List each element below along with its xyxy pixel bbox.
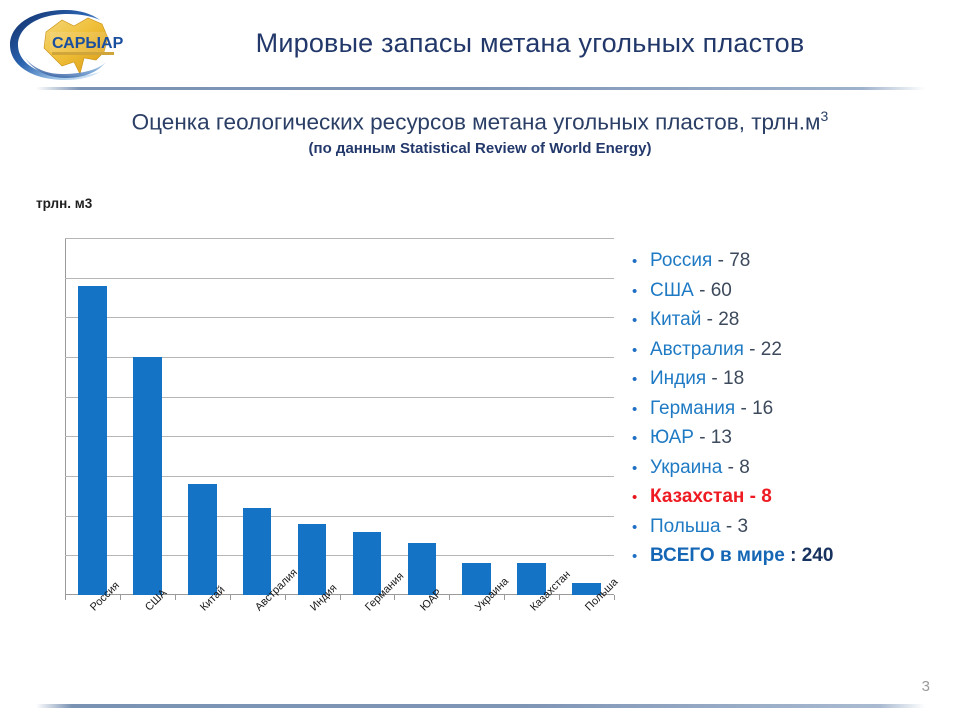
bar-chart: трлн. м3 0102030405060708090 РоссияСШАКи… <box>0 190 630 670</box>
list-item-value: - 18 <box>706 368 744 389</box>
list-item: •Польша - 3 <box>632 516 960 546</box>
bar-series <box>65 238 614 595</box>
bar <box>353 532 382 595</box>
logo-wordmark-text: САРЫАРКА <box>52 35 124 52</box>
list-item: •Австралия - 22 <box>632 339 960 369</box>
bullet-dot-icon: • <box>632 284 650 299</box>
list-item-name: Украина <box>650 457 722 478</box>
plot-area: 0102030405060708090 <box>65 238 614 595</box>
bullet-dot-icon: • <box>632 490 650 505</box>
list-item-name: Казахстан <box>650 486 744 507</box>
bullet-dot-icon: • <box>632 372 650 387</box>
list-item-text: Казахстан - 8 <box>650 486 772 508</box>
header-divider <box>36 87 925 90</box>
list-item-text: ЮАР - 13 <box>650 427 732 449</box>
list-item: •США - 60 <box>632 280 960 310</box>
list-item-name: Китай <box>650 309 701 330</box>
list-item-name: ЮАР <box>650 427 694 448</box>
list-item-value: - 16 <box>735 398 773 419</box>
list-item: •Индия - 18 <box>632 368 960 398</box>
list-item-text: Россия - 78 <box>650 250 750 272</box>
x-tick <box>614 595 615 600</box>
bar <box>298 524 327 595</box>
x-tick <box>449 595 450 600</box>
bullet-dot-icon: • <box>632 431 650 446</box>
company-logo: САРЫАРКА <box>4 4 124 86</box>
x-tick <box>65 595 66 600</box>
x-tick <box>394 595 395 600</box>
list-item: •ВСЕГО в мире : 240 <box>632 545 960 575</box>
list-item-value: - 22 <box>744 339 782 360</box>
list-item-name: Германия <box>650 398 735 419</box>
list-item-name: ВСЕГО в мире <box>650 545 785 566</box>
bullet-dot-icon: • <box>632 520 650 535</box>
logo-wordmark: САРЫАРКА <box>50 32 124 55</box>
chart-title: Оценка геологических ресурсов метана уго… <box>0 108 960 136</box>
list-item: •Китай - 28 <box>632 309 960 339</box>
list-item-value: - 3 <box>721 516 748 537</box>
page-title: Мировые запасы метана угольных пластов <box>150 28 910 59</box>
bullet-dot-icon: • <box>632 254 650 269</box>
x-tick <box>230 595 231 600</box>
list-item-value: - 8 <box>722 457 749 478</box>
country-reserves-list: •Россия - 78•США - 60•Китай - 28•Австрал… <box>632 250 960 575</box>
list-item-text: Германия - 16 <box>650 398 773 420</box>
list-item-name: Россия <box>650 250 712 271</box>
list-item-value: - 13 <box>694 427 732 448</box>
slide: САРЫАРКА Мировые запасы метана угольных … <box>0 0 960 720</box>
x-tick <box>340 595 341 600</box>
list-item-text: Польша - 3 <box>650 516 748 538</box>
list-item-name: Польша <box>650 516 721 537</box>
bullet-dot-icon: • <box>632 313 650 328</box>
list-item-text: США - 60 <box>650 280 732 302</box>
list-item-value: - 60 <box>694 280 732 301</box>
list-item-value: : 240 <box>785 545 834 566</box>
y-axis-label: трлн. м3 <box>36 196 92 211</box>
list-item-text: Индия - 18 <box>650 368 744 390</box>
list-item: •Россия - 78 <box>632 250 960 280</box>
list-item-name: Австралия <box>650 339 744 360</box>
list-item-value: - 28 <box>701 309 739 330</box>
bar <box>243 508 272 595</box>
bullet-dot-icon: • <box>632 402 650 417</box>
list-item-text: Украина - 8 <box>650 457 750 479</box>
list-item-text: Китай - 28 <box>650 309 739 331</box>
list-item-text: Австралия - 22 <box>650 339 782 361</box>
chart-title-text: Оценка геологических ресурсов метана уго… <box>132 110 821 135</box>
chart-title-superscript: 3 <box>821 108 829 124</box>
chart-subtitle: (по данным Statistical Review of World E… <box>0 140 960 157</box>
footer-divider <box>36 704 925 708</box>
x-tick <box>504 595 505 600</box>
bullet-dot-icon: • <box>632 461 650 476</box>
page-number: 3 <box>922 678 930 695</box>
bar <box>78 286 107 595</box>
x-tick <box>120 595 121 600</box>
list-item: •ЮАР - 13 <box>632 427 960 457</box>
bullet-dot-icon: • <box>632 549 650 564</box>
list-item-value: - 78 <box>712 250 750 271</box>
list-item-text: ВСЕГО в мире : 240 <box>650 545 833 567</box>
bar <box>188 484 217 595</box>
list-item: •Украина - 8 <box>632 457 960 487</box>
list-item-name: Индия <box>650 368 706 389</box>
x-tick <box>175 595 176 600</box>
bar <box>408 543 437 595</box>
bar <box>133 357 162 595</box>
bullet-dot-icon: • <box>632 343 650 358</box>
list-item: •Казахстан - 8 <box>632 486 960 516</box>
x-tick <box>559 595 560 600</box>
list-item-value: - 8 <box>744 486 771 507</box>
x-tick <box>285 595 286 600</box>
list-item: •Германия - 16 <box>632 398 960 428</box>
list-item-name: США <box>650 280 694 301</box>
